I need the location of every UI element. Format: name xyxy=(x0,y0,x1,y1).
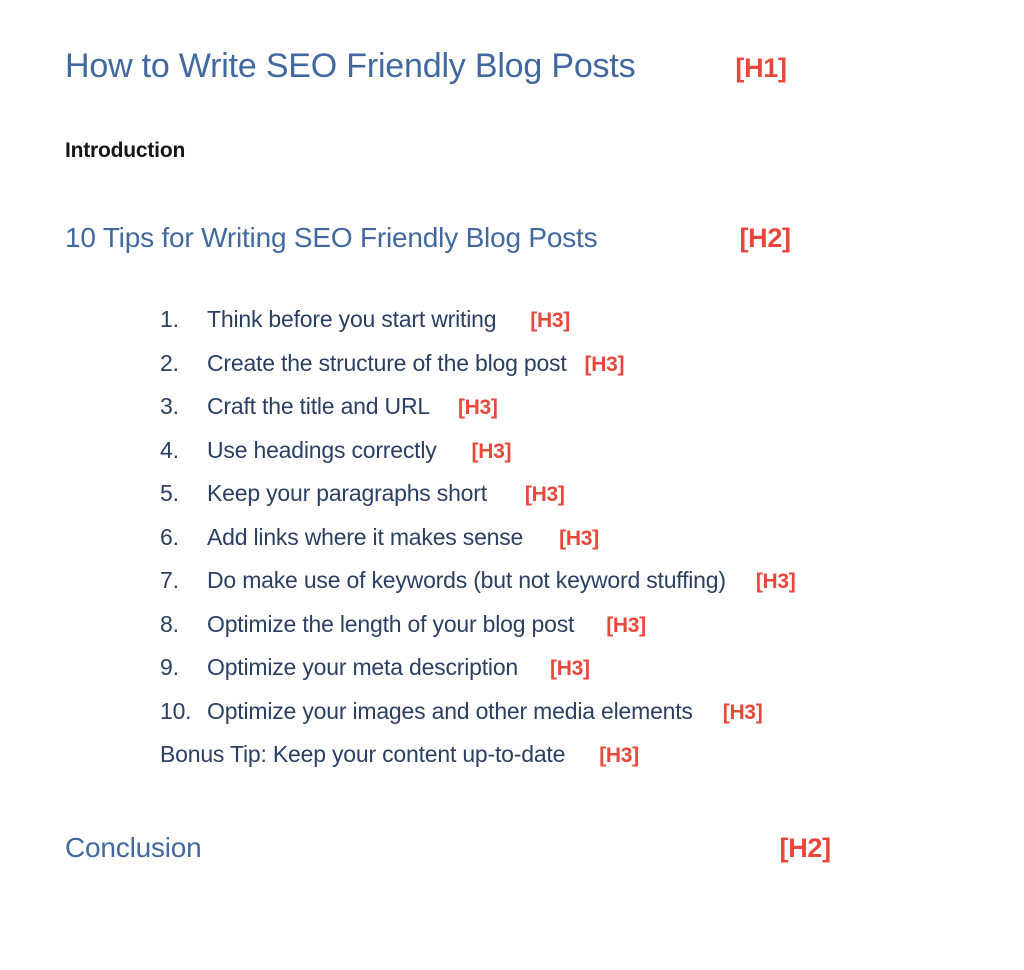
h2-conclusion-heading: Conclusion xyxy=(65,832,202,864)
h3-level-marker: [H3] xyxy=(585,353,625,377)
h3-level-marker: [H3] xyxy=(530,309,570,333)
list-item-number: 4. xyxy=(160,437,207,464)
list-item-number: 8. xyxy=(160,611,207,638)
list-item: 10. Optimize your images and other media… xyxy=(160,698,1020,742)
list-item-label: Optimize the length of your blog post xyxy=(207,611,574,638)
list-item-label: Do make use of keywords (but not keyword… xyxy=(207,567,726,594)
h3-level-marker: [H3] xyxy=(559,527,599,551)
list-item-number: 10. xyxy=(160,698,207,725)
list-item-label: Use headings correctly xyxy=(207,437,437,464)
list-item-label: Craft the title and URL xyxy=(207,393,430,420)
list-item-number: 5. xyxy=(160,480,207,507)
list-item: 3. Craft the title and URL [H3] xyxy=(160,393,1020,437)
page-title: How to Write SEO Friendly Blog Posts xyxy=(65,47,635,86)
list-item: 6. Add links where it makes sense [H3] xyxy=(160,524,1020,568)
list-item-label: Create the structure of the blog post xyxy=(207,350,567,377)
h2-tips-level-marker: [H2] xyxy=(739,223,790,254)
h3-level-marker: [H3] xyxy=(606,614,646,638)
h3-level-marker: [H3] xyxy=(723,701,763,725)
tips-list: 1. Think before you start writing [H3] 2… xyxy=(160,306,1020,785)
list-item-number: 7. xyxy=(160,567,207,594)
list-item: 9. Optimize your meta description [H3] xyxy=(160,654,1020,698)
list-item-label: Think before you start writing xyxy=(207,306,496,333)
introduction-heading: Introduction xyxy=(65,139,185,163)
h3-level-marker: [H3] xyxy=(599,744,639,768)
list-item-label: Optimize your images and other media ele… xyxy=(207,698,693,725)
list-item-number: 1. xyxy=(160,306,207,333)
bonus-tip-label: Bonus Tip: Keep your content up-to-date xyxy=(160,741,565,768)
h2-tips-heading-row: 10 Tips for Writing SEO Friendly Blog Po… xyxy=(65,222,985,264)
list-item-number: 9. xyxy=(160,654,207,681)
h2-conclusion-level-marker: [H2] xyxy=(780,833,831,864)
list-item-label: Add links where it makes sense xyxy=(207,524,523,551)
list-item-number: 6. xyxy=(160,524,207,551)
h3-level-marker: [H3] xyxy=(458,396,498,420)
h1-level-marker: [H1] xyxy=(735,53,786,84)
h3-level-marker: [H3] xyxy=(472,440,512,464)
list-item: 7. Do make use of keywords (but not keyw… xyxy=(160,567,1020,611)
list-item: 8. Optimize the length of your blog post… xyxy=(160,611,1020,655)
h1-heading-row: How to Write SEO Friendly Blog Posts [H1… xyxy=(65,47,985,95)
list-item-label: Keep your paragraphs short xyxy=(207,480,487,507)
list-item-number: 2. xyxy=(160,350,207,377)
h3-level-marker: [H3] xyxy=(525,483,565,507)
list-item: 5. Keep your paragraphs short [H3] xyxy=(160,480,1020,524)
list-item-label: Optimize your meta description xyxy=(207,654,518,681)
h2-tips-heading: 10 Tips for Writing SEO Friendly Blog Po… xyxy=(65,222,597,254)
bonus-tip-item: Bonus Tip: Keep your content up-to-date … xyxy=(160,741,1020,785)
document-canvas: How to Write SEO Friendly Blog Posts [H1… xyxy=(0,0,1024,970)
h3-level-marker: [H3] xyxy=(756,570,796,594)
list-item-number: 3. xyxy=(160,393,207,420)
list-item: 4. Use headings correctly [H3] xyxy=(160,437,1020,481)
list-item: 2. Create the structure of the blog post… xyxy=(160,350,1020,394)
h2-conclusion-heading-row: Conclusion [H2] xyxy=(65,832,985,874)
h3-level-marker: [H3] xyxy=(550,657,590,681)
list-item: 1. Think before you start writing [H3] xyxy=(160,306,1020,350)
